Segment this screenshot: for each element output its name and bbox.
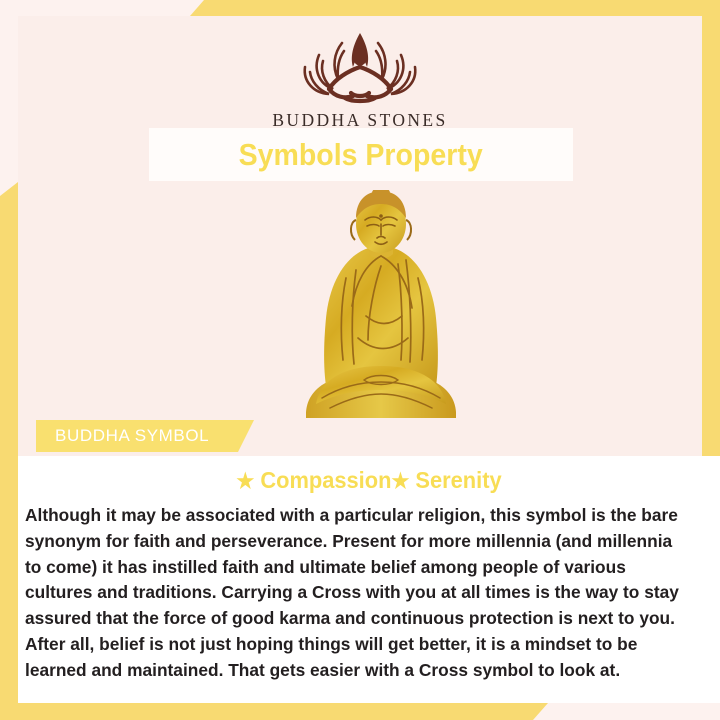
buddha-statue-icon	[286, 190, 476, 422]
decor-band-left	[0, 182, 18, 720]
content-headline: ★ Compassion★ Serenity	[36, 467, 703, 494]
title-card: Symbols Property	[149, 128, 573, 181]
header-section: BUDDHA STONES Symbols Property	[18, 16, 702, 456]
brand-logo: BUDDHA STONES	[18, 16, 702, 131]
content-section: ★ Compassion★ Serenity Although it may b…	[18, 456, 720, 703]
decor-band-right	[702, 0, 720, 533]
poster-canvas: BUDDHA STONES Symbols Property	[0, 0, 720, 720]
decor-band-bottom	[0, 703, 548, 720]
headline-serenity: Serenity	[415, 467, 501, 493]
lotus-meditation-icon	[285, 27, 435, 109]
headline-compassion: Compassion	[260, 467, 391, 493]
content-paragraph: Although it may be associated with a par…	[25, 503, 692, 684]
star-icon-left: ★	[236, 470, 254, 493]
golden-seated-buddha-statue	[286, 190, 476, 422]
buddha-symbol-ribbon: BUDDHA SYMBOL	[36, 420, 254, 452]
ribbon-label: BUDDHA SYMBOL	[36, 426, 209, 446]
page-title: Symbols Property	[239, 137, 483, 173]
decor-band-top	[190, 0, 720, 16]
star-icon-right: ★	[391, 470, 409, 493]
